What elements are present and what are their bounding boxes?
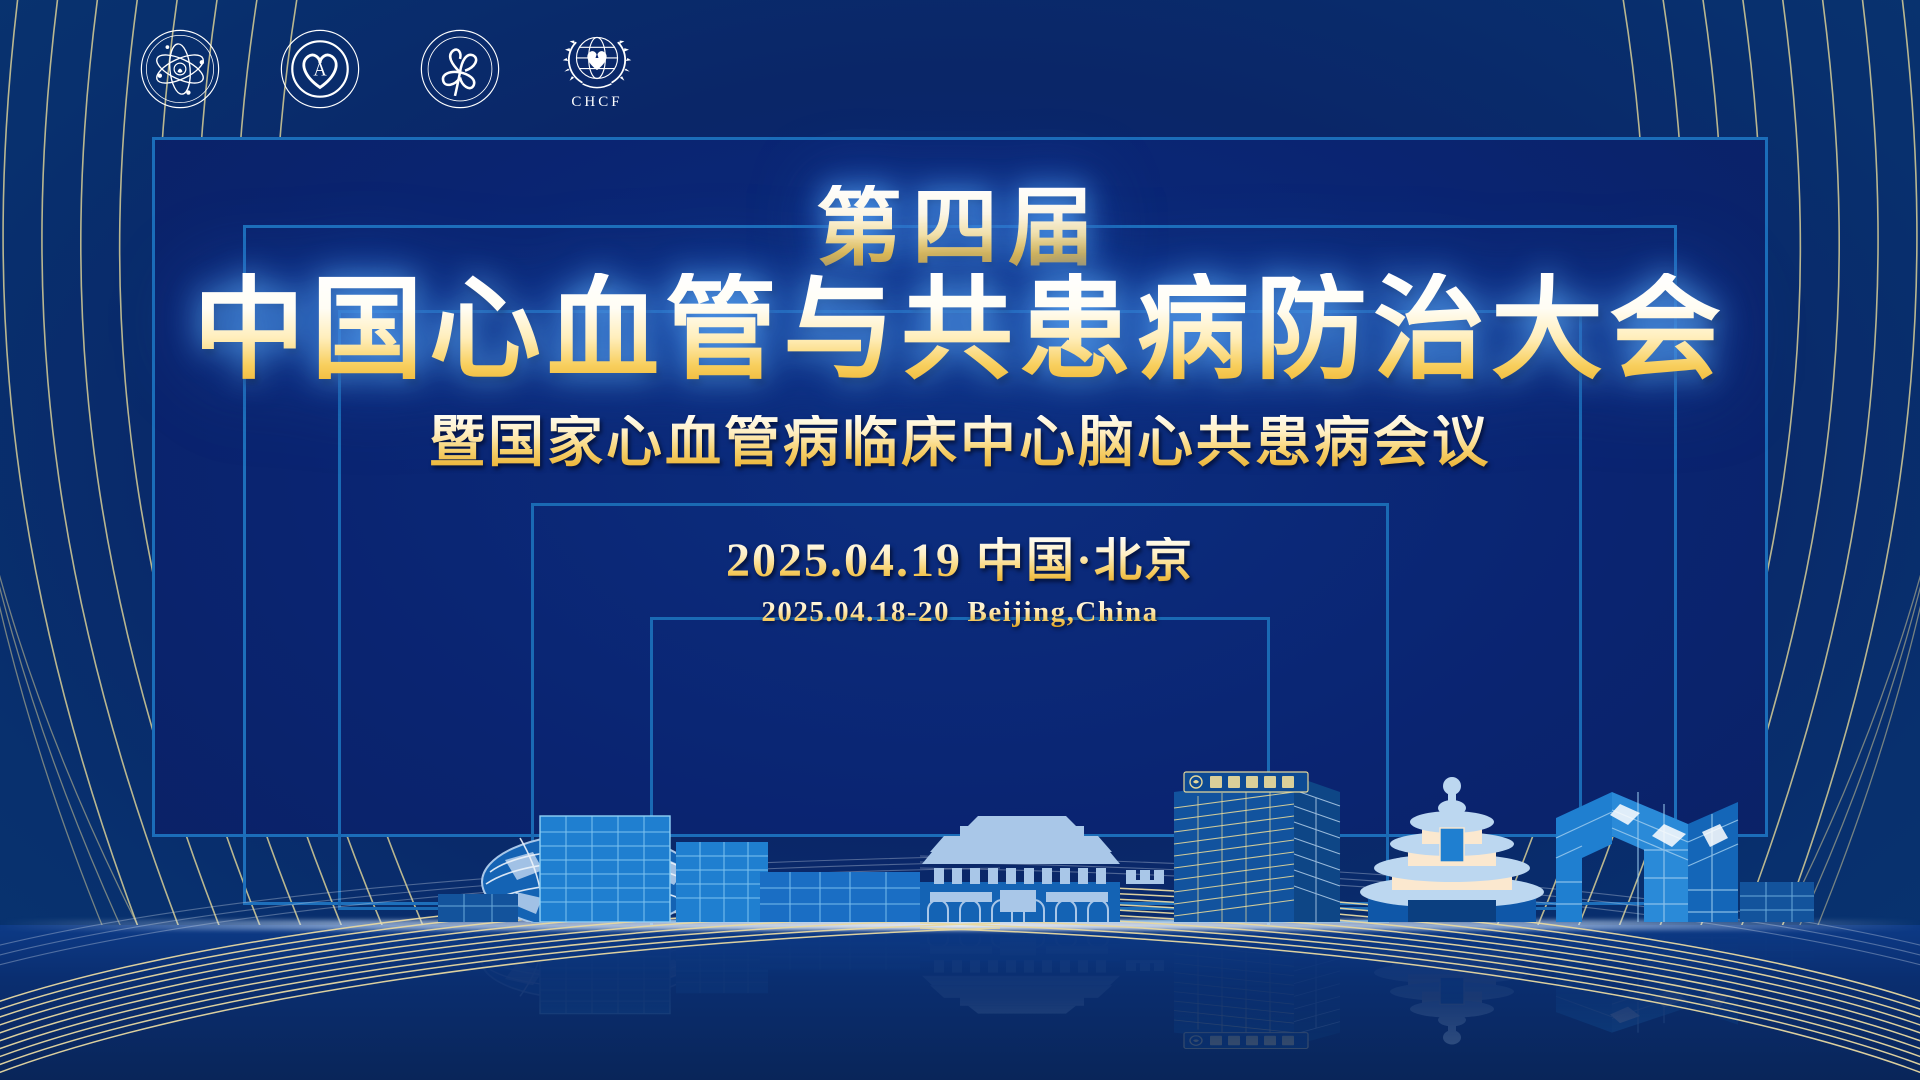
event-location-zh: 中国·北京 [976, 534, 1194, 587]
headline-block: 第四届 中国心血管与共患病防治大会 暨国家心血管病临床中心脑心共患病会议 202… [0, 0, 1920, 627]
cctv-headquarters [1556, 792, 1738, 922]
far-right-blocks [1740, 882, 1814, 922]
tiananmen-gate [920, 816, 1164, 922]
far-left-blocks [438, 894, 518, 922]
event-date-en: 2025.04.18-20 [761, 596, 950, 628]
event-date-location-zh: 2025.04.19中国·北京 [0, 537, 1920, 585]
conference-title: 中国心血管与共患病防治大会 [0, 273, 1920, 391]
event-location-en: Beijing,China [968, 596, 1159, 628]
conference-subtitle: 暨国家心血管病临床中心脑心共患病会议 [0, 415, 1920, 471]
beijing-skyline [0, 732, 1920, 922]
anzhen-hospital-tower [1174, 772, 1340, 922]
skyline-reflection [0, 930, 1920, 1080]
event-date-location-en: 2025.04.18-20 Beijing,China [0, 598, 1920, 627]
conference-banner: A [0, 0, 1920, 1080]
temple-of-heaven [1360, 777, 1544, 922]
hospital-building-west [540, 816, 768, 922]
low-connector-block [760, 872, 920, 922]
edition-title: 第四届 [0, 185, 1920, 271]
event-date-zh: 2025.04.19 [726, 534, 962, 587]
